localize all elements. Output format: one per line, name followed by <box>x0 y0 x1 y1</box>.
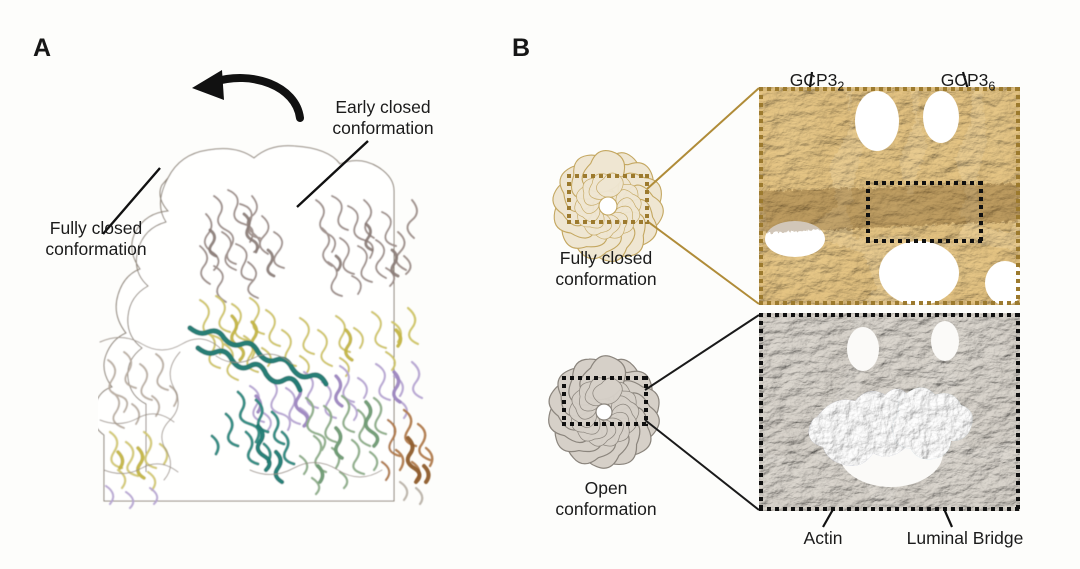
inset-fully-closed-density <box>759 87 1020 305</box>
gcp3-2-base: GCP3 <box>790 70 838 90</box>
label-gcp3-6: GCP36 <box>908 49 1028 94</box>
label-open-panel-b: Open conformation <box>513 478 699 519</box>
rotation-arrow <box>192 70 300 118</box>
label-early-closed-panel-a: Early closed conformation <box>303 97 463 138</box>
label-gcp3-2: GCP32 <box>757 49 877 94</box>
gcp3-2-subscript: 2 <box>837 79 844 93</box>
gcp3-6-base: GCP3 <box>941 70 989 90</box>
label-actin: Actin <box>763 528 883 549</box>
roi-box-open <box>562 376 648 426</box>
inset-open-density <box>759 313 1020 511</box>
label-fully-closed-panel-b: Fully closed conformation <box>513 248 699 289</box>
panel-a-letter: A <box>33 36 51 61</box>
ring-open <box>541 350 667 473</box>
label-fully-closed-panel-a: Fully closed conformation <box>6 218 186 259</box>
roi-box-closed <box>567 174 649 224</box>
leader-early-closed-a <box>297 141 368 207</box>
gcp3-6-subscript: 6 <box>988 79 995 93</box>
panel-b-letter: B <box>512 36 530 61</box>
figure-root: A <box>0 0 1080 569</box>
label-luminal-bridge: Luminal Bridge <box>880 528 1050 549</box>
